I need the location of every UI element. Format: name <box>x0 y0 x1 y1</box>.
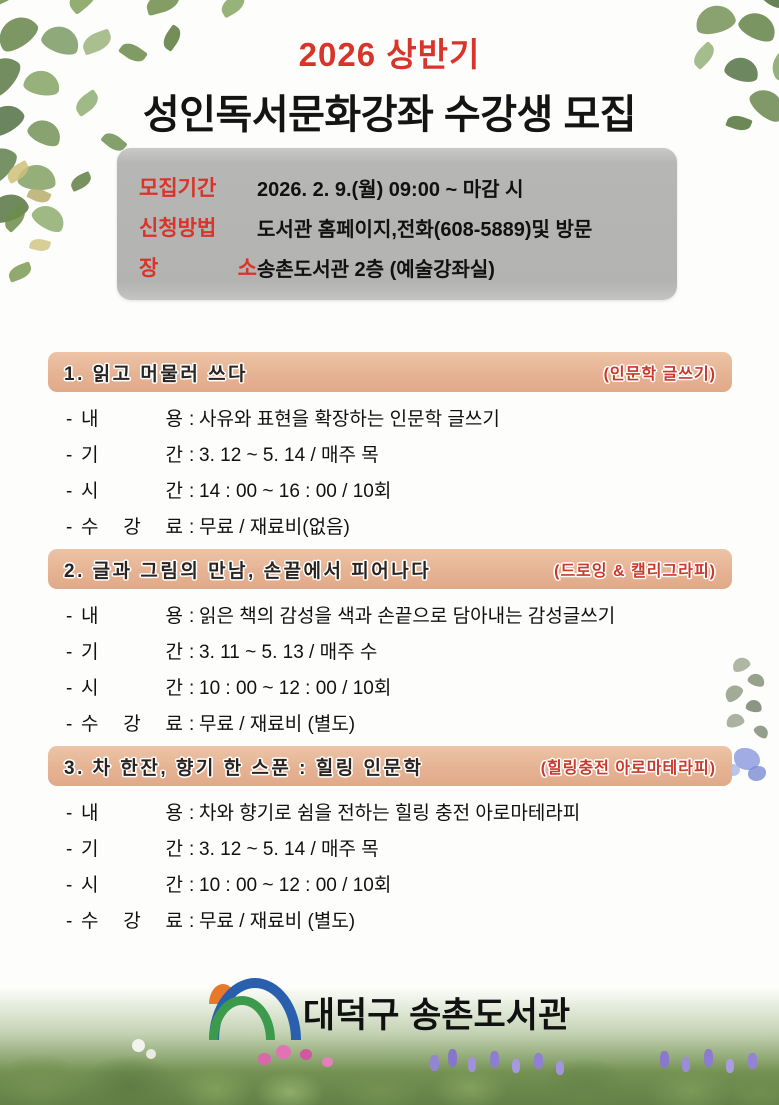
detail-value-content: 사유와 표현을 확장하는 인문학 글쓰기 <box>199 404 500 431</box>
course-1-tag: (인문학 글쓰기) <box>604 360 716 384</box>
course-2-details: - 내용 : 읽은 책의 감성을 색과 손끝으로 담아내는 감성글쓰기 - 기간… <box>48 589 732 736</box>
info-row-location: 장 소 송촌도서관 2층 (예술강좌실) <box>117 248 677 286</box>
detail-key-time: 시간 <box>81 673 189 700</box>
info-label-location: 장 소 <box>117 252 257 282</box>
page-title: 성인독서문화강좌 수강생 모집 <box>0 82 779 140</box>
detail-key-content: 내용 <box>81 404 189 431</box>
detail-key-time: 시간 <box>81 476 189 503</box>
detail-value-content: 읽은 책의 감성을 색과 손끝으로 담아내는 감성글쓰기 <box>199 601 615 628</box>
bullet-dash: - <box>66 642 81 664</box>
detail-key-content: 내용 <box>81 798 189 825</box>
info-label-location-char2: 소 <box>238 252 257 282</box>
detail-value-time: 14 : 00 ~ 16 : 00 / 10회 <box>199 476 391 503</box>
course-3-header-bar: 3. 차 한잔, 향기 한 스푼 : 힐링 인문학 (힐링충전 아로마테라피) <box>48 746 732 786</box>
detail-colon: : <box>189 481 199 503</box>
detail-colon: : <box>189 642 199 664</box>
detail-value-content: 차와 향기로 쉼을 전하는 힐링 충전 아로마테라피 <box>199 798 580 825</box>
info-value-method: 도서관 홈페이지,전화(608-5889)및 방문 <box>257 213 592 242</box>
course-3-detail-time: - 시간 : 10 : 00 ~ 12 : 00 / 10회 <box>66 870 732 897</box>
info-label-period: 모집기간 <box>117 172 257 202</box>
course-1-detail-content: - 내용 : 사유와 표현을 확장하는 인문학 글쓰기 <box>66 404 732 431</box>
detail-value-time: 10 : 00 ~ 12 : 00 / 10회 <box>199 870 391 897</box>
course-1-details: - 내용 : 사유와 표현을 확장하는 인문학 글쓰기 - 기간 : 3. 12… <box>48 392 732 539</box>
course-1-title: 1. 읽고 머물러 쓰다 <box>64 359 248 386</box>
bullet-dash: - <box>66 803 81 825</box>
bullet-dash: - <box>66 875 81 897</box>
detail-colon: : <box>189 409 199 431</box>
course-2-title: 2. 글과 그림의 만남, 손끝에서 피어나다 <box>64 556 431 583</box>
info-value-location: 송촌도서관 2층 (예술강좌실) <box>257 253 495 282</box>
course-2-detail-fee: - 수강료 : 무료 / 재료비 (별도) <box>66 709 732 736</box>
course-2-detail-time: - 시간 : 10 : 00 ~ 12 : 00 / 10회 <box>66 673 732 700</box>
course-3-details: - 내용 : 차와 향기로 쉼을 전하는 힐링 충전 아로마테라피 - 기간 :… <box>48 786 732 933</box>
info-row-period: 모집기간 2026. 2. 9.(월) 09:00 ~ 마감 시 <box>117 168 677 206</box>
bullet-dash: - <box>66 911 81 933</box>
course-1-detail-time: - 시간 : 14 : 00 ~ 16 : 00 / 10회 <box>66 476 732 503</box>
bullet-dash: - <box>66 606 81 628</box>
detail-value-period: 3. 12 ~ 5. 14 / 매주 목 <box>199 440 379 467</box>
bullet-dash: - <box>66 839 81 861</box>
detail-value-period: 3. 12 ~ 5. 14 / 매주 목 <box>199 834 379 861</box>
bullet-dash: - <box>66 481 81 503</box>
course-3-title: 3. 차 한잔, 향기 한 스푼 : 힐링 인문학 <box>64 753 423 780</box>
course-3-detail-fee: - 수강료 : 무료 / 재료비 (별도) <box>66 906 732 933</box>
course-3-tag: (힐링충전 아로마테라피) <box>541 754 716 778</box>
detail-value-time: 10 : 00 ~ 12 : 00 / 10회 <box>199 673 391 700</box>
library-name: 대덕구 송촌도서관 <box>303 987 570 1038</box>
course-1-header-bar: 1. 읽고 머물러 쓰다 (인문학 글쓰기) <box>48 352 732 392</box>
poster-header: 2026 상반기 성인독서문화강좌 수강생 모집 <box>0 0 779 150</box>
detail-value-fee: 무료 / 재료비 (별도) <box>199 906 355 933</box>
detail-colon: : <box>189 517 199 539</box>
detail-key-content: 내용 <box>81 601 189 628</box>
course-2-header-bar: 2. 글과 그림의 만남, 손끝에서 피어나다 (드로잉 & 캘리그라피) <box>48 549 732 589</box>
detail-value-period: 3. 11 ~ 5. 13 / 매주 수 <box>199 637 377 664</box>
course-3-detail-period: - 기간 : 3. 12 ~ 5. 14 / 매주 목 <box>66 834 732 861</box>
footer-logo-row: 대덕구 송촌도서관 <box>0 984 779 1040</box>
detail-value-fee: 무료 / 재료비 (별도) <box>199 709 355 736</box>
detail-colon: : <box>189 839 199 861</box>
kicker-year-term: 2026 상반기 <box>0 28 779 76</box>
course-section-3: 3. 차 한잔, 향기 한 스푼 : 힐링 인문학 (힐링충전 아로마테라피) … <box>48 746 732 942</box>
detail-key-fee: 수강료 <box>81 512 189 539</box>
detail-colon: : <box>189 875 199 897</box>
course-2-tag: (드로잉 & 캘리그라피) <box>554 557 716 581</box>
recruitment-info-box: 모집기간 2026. 2. 9.(월) 09:00 ~ 마감 시 신청방법 도서… <box>117 148 677 300</box>
info-label-method: 신청방법 <box>117 212 257 242</box>
detail-colon: : <box>189 911 199 933</box>
detail-key-fee: 수강료 <box>81 906 189 933</box>
poster-canvas: 2026 상반기 성인독서문화강좌 수강생 모집 모집기간 2026. 2. 9… <box>0 0 779 1105</box>
detail-colon: : <box>189 803 199 825</box>
course-section-2: 2. 글과 그림의 만남, 손끝에서 피어나다 (드로잉 & 캘리그라피) - … <box>48 549 732 745</box>
course-1-detail-fee: - 수강료 : 무료 / 재료비(없음) <box>66 512 732 539</box>
bullet-dash: - <box>66 714 81 736</box>
detail-key-period: 기간 <box>81 440 189 467</box>
detail-colon: : <box>189 606 199 628</box>
detail-key-period: 기간 <box>81 637 189 664</box>
course-section-1: 1. 읽고 머물러 쓰다 (인문학 글쓰기) - 내용 : 사유와 표현을 확장… <box>48 352 732 548</box>
course-1-detail-period: - 기간 : 3. 12 ~ 5. 14 / 매주 목 <box>66 440 732 467</box>
bullet-dash: - <box>66 517 81 539</box>
course-3-detail-content: - 내용 : 차와 향기로 쉼을 전하는 힐링 충전 아로마테라피 <box>66 798 732 825</box>
detail-key-fee: 수강료 <box>81 709 189 736</box>
bullet-dash: - <box>66 445 81 467</box>
detail-key-time: 시간 <box>81 870 189 897</box>
bullet-dash: - <box>66 678 81 700</box>
daedeok-gu-rainbow-arch-logo-icon <box>209 984 287 1040</box>
detail-value-fee: 무료 / 재료비(없음) <box>199 512 350 539</box>
bullet-dash: - <box>66 409 81 431</box>
course-2-detail-content: - 내용 : 읽은 책의 감성을 색과 손끝으로 담아내는 감성글쓰기 <box>66 601 732 628</box>
detail-colon: : <box>189 445 199 467</box>
course-2-detail-period: - 기간 : 3. 11 ~ 5. 13 / 매주 수 <box>66 637 732 664</box>
info-value-period: 2026. 2. 9.(월) 09:00 ~ 마감 시 <box>257 173 524 202</box>
detail-colon: : <box>189 714 199 736</box>
foliage-decoration-left <box>0 155 90 315</box>
detail-key-period: 기간 <box>81 834 189 861</box>
info-row-method: 신청방법 도서관 홈페이지,전화(608-5889)및 방문 <box>117 208 677 246</box>
detail-colon: : <box>189 678 199 700</box>
info-label-location-char1: 장 <box>139 252 158 282</box>
